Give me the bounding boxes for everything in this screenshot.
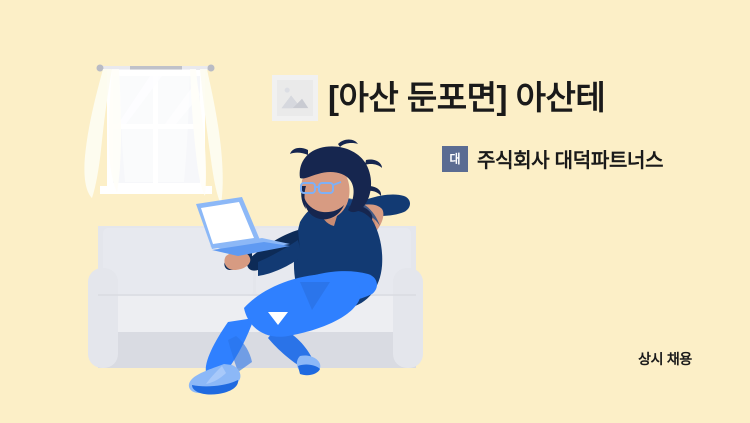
job-posting-card[interactable]: [아산 둔포면] 아산테 대 주식회사 대덕파트너스 상시 채용 xyxy=(0,0,750,423)
posting-text-block: [아산 둔포면] 아산테 대 주식회사 대덕파트너스 xyxy=(272,70,750,190)
page-title: [아산 둔포면] 아산테 xyxy=(328,79,605,117)
image-placeholder-icon xyxy=(272,75,318,121)
title-row: [아산 둔포면] 아산테 xyxy=(272,70,750,126)
illustration-man-on-couch xyxy=(0,0,470,423)
status-badge: 상시 채용 xyxy=(638,349,692,369)
company-row[interactable]: 대 주식회사 대덕파트너스 xyxy=(442,144,750,173)
company-badge: 대 xyxy=(442,146,468,172)
company-name[interactable]: 주식회사 대덕파트너스 xyxy=(477,144,663,173)
